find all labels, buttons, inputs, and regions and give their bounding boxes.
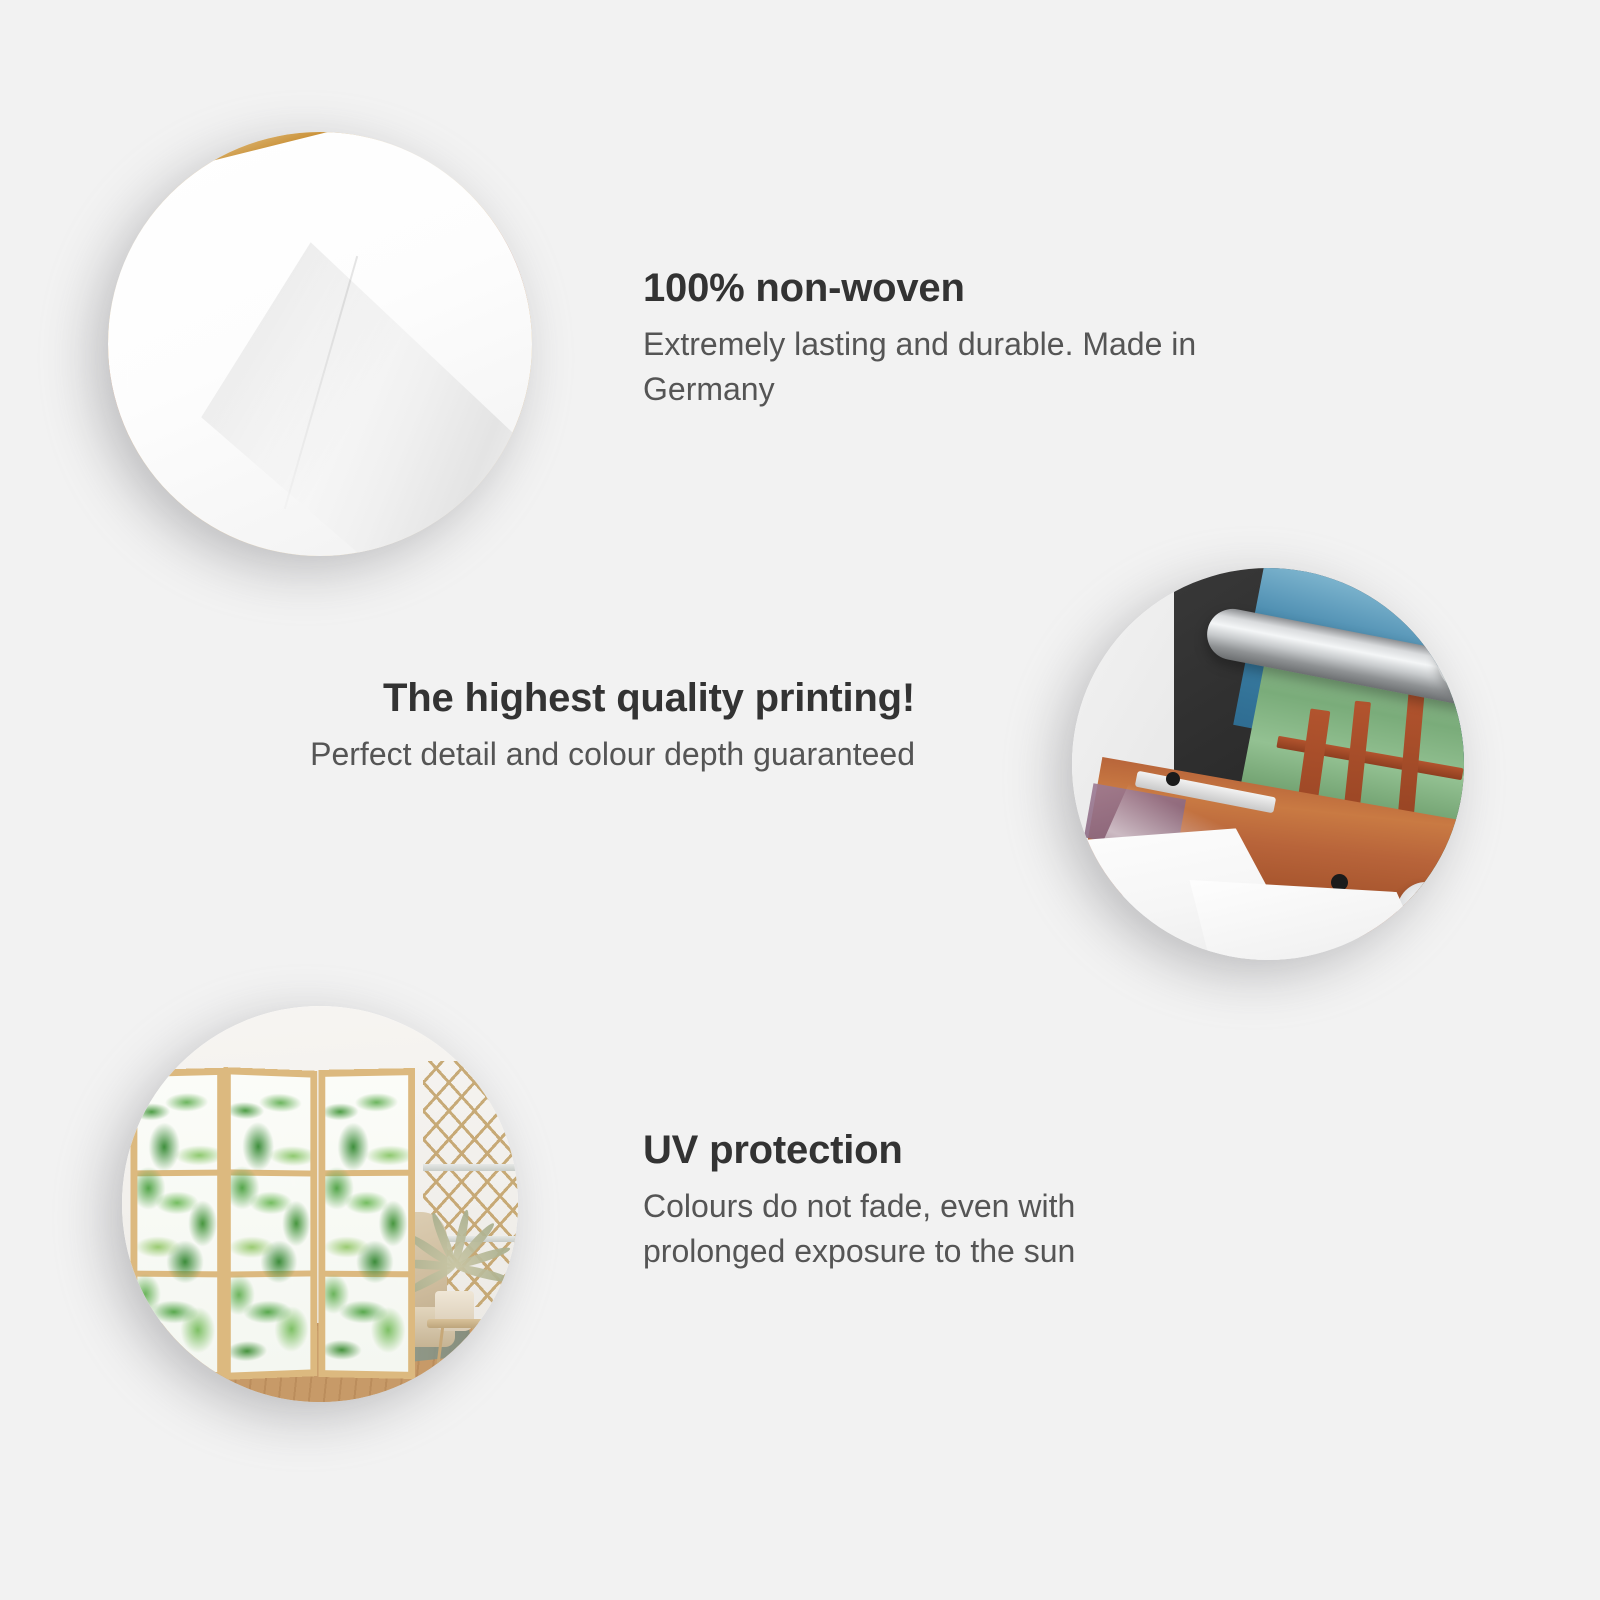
uv-protection-feature-text: UV protection Colours do not fade, even … — [643, 1128, 1203, 1275]
uv-protection-title: UV protection — [643, 1128, 1203, 1172]
panel-cross-rail — [137, 1170, 217, 1177]
palm-frond — [454, 1262, 512, 1285]
non-woven-feature-text: 100% non-woven Extremely lasting and dur… — [643, 266, 1323, 413]
non-woven-feature-image — [108, 132, 532, 556]
uv-protection-feature-image — [122, 1006, 518, 1402]
divider-panel-right — [318, 1068, 415, 1379]
panel-cross-rail — [231, 1270, 311, 1277]
feature-highlights-page: 100% non-woven Extremely lasting and dur… — [0, 0, 1600, 1600]
non-woven-description: Extremely lasting and durable. Made in G… — [643, 322, 1323, 413]
shelf-board-upper — [423, 1164, 518, 1170]
divider-panel-left — [130, 1068, 224, 1379]
printing-quality-title: The highest quality printing! — [240, 676, 915, 720]
panel-cross-rail — [325, 1170, 408, 1177]
potted-palm-plant — [399, 1200, 510, 1303]
press-adjust-knob-left — [1166, 772, 1180, 786]
folding-room-divider-screen — [130, 1069, 415, 1378]
printing-quality-description: Perfect detail and colour depth guarante… — [240, 732, 915, 777]
printing-quality-feature-text: The highest quality printing! Perfect de… — [240, 676, 915, 777]
divider-panel-middle — [224, 1067, 318, 1380]
panel-cross-rail — [231, 1170, 311, 1177]
non-woven-title: 100% non-woven — [643, 266, 1323, 310]
panel-cross-rail — [325, 1271, 408, 1278]
printing-press-photo — [1072, 568, 1464, 960]
printing-quality-feature-image — [1072, 568, 1464, 960]
tropical-room-divider-photo — [122, 1006, 518, 1402]
panel-cross-rail — [137, 1271, 217, 1278]
side-table-top — [427, 1319, 490, 1328]
uv-protection-description: Colours do not fade, even with prolonged… — [643, 1184, 1203, 1275]
peeled-wallpaper-corner-photo — [108, 132, 532, 556]
